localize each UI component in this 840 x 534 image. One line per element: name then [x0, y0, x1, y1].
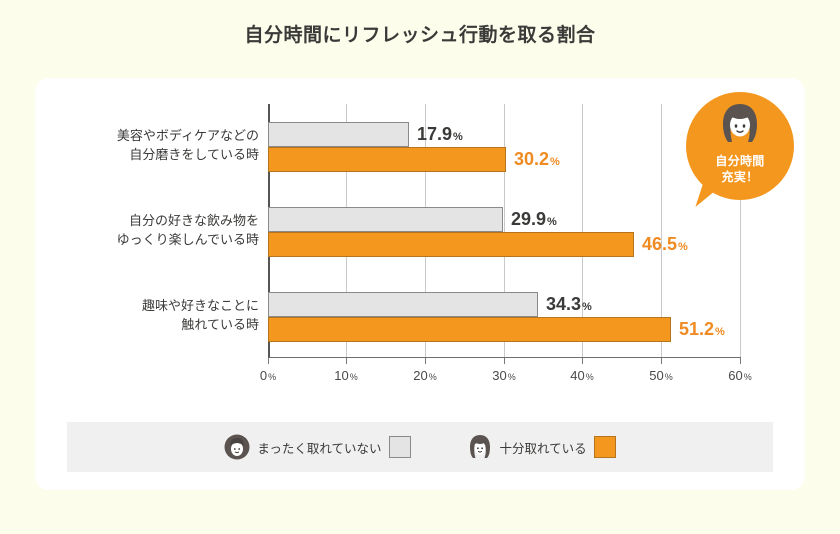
category-label-2: 趣味や好きなことに 触れている時 — [69, 296, 259, 334]
tick-60 — [740, 357, 741, 364]
chart-legend: まったく取れていない 十分取れている — [67, 422, 773, 472]
category-label-0-line2: 自分磨きをしている時 — [69, 145, 259, 164]
x-tick-label-0: 0% — [260, 368, 276, 383]
category-label-1-line1: 自分の好きな飲み物を — [69, 211, 259, 230]
percent-sign: % — [715, 326, 725, 338]
legend-swatch-gray — [389, 436, 411, 458]
category-label-1: 自分の好きな飲み物を ゆっくり楽しんでいる時 — [69, 211, 259, 249]
bar-value-gray-1-number: 29.9 — [511, 209, 546, 229]
tick-40 — [582, 357, 583, 364]
bar-value-gray-0: 17.9% — [417, 122, 463, 147]
x-tick-label-30-number: 30 — [492, 368, 506, 383]
bar-value-orange-2: 51.2% — [679, 317, 725, 342]
bar-value-gray-2-number: 34.3 — [546, 294, 581, 314]
bar-orange-1 — [268, 232, 634, 257]
bar-orange-2 — [268, 317, 671, 342]
legend-item-0[interactable]: まったく取れていない — [224, 434, 410, 460]
bar-value-orange-2-number: 51.2 — [679, 319, 714, 339]
x-tick-label-60-number: 60 — [728, 368, 742, 383]
percent-sign: % — [582, 301, 592, 313]
x-tick-label-20: 20% — [413, 368, 436, 383]
category-label-0: 美容やボディケアなどの 自分磨きをしている時 — [69, 126, 259, 164]
x-tick-label-60: 60% — [728, 368, 751, 383]
x-tick-label-0-number: 0 — [260, 368, 267, 383]
x-tick-label-30: 30% — [492, 368, 515, 383]
chart-page: 自分時間にリフレッシュ行動を取る割合 美容やボディケアなどの 自分磨きをしている… — [0, 0, 840, 534]
face-gray-icon — [224, 434, 250, 460]
tick-20 — [425, 357, 426, 364]
bar-value-orange-0-number: 30.2 — [514, 149, 549, 169]
percent-sign: % — [678, 241, 688, 253]
bar-orange-0 — [268, 147, 506, 172]
category-label-2-line1: 趣味や好きなことに — [69, 296, 259, 315]
percent-sign: % — [547, 216, 557, 228]
bar-gray-2 — [268, 292, 538, 317]
x-tick-label-20-number: 20 — [413, 368, 427, 383]
x-tick-label-10-number: 10 — [334, 368, 348, 383]
tick-50 — [661, 357, 662, 364]
category-label-0-line1: 美容やボディケアなどの — [69, 126, 259, 145]
category-labels: 美容やボディケアなどの 自分磨きをしている時 自分の好きな飲み物を ゆっくり楽し… — [63, 104, 259, 357]
bar-value-orange-0: 30.2% — [514, 147, 560, 172]
x-axis-line — [268, 357, 741, 358]
tick-30 — [504, 357, 505, 364]
legend-label-1: 十分取れている — [500, 438, 587, 457]
speech-bubble: 自分時間 充実！ — [686, 92, 794, 200]
category-label-2-line2: 触れている時 — [69, 315, 259, 334]
x-tick-label-50: 50% — [649, 368, 672, 383]
speech-bubble-line2: 充実！ — [686, 169, 794, 185]
legend-item-1[interactable]: 十分取れている — [467, 434, 616, 460]
tick-0 — [268, 357, 269, 364]
x-tick-label-40: 40% — [570, 368, 593, 383]
x-tick-label-40-number: 40 — [570, 368, 584, 383]
chart-card: 美容やボディケアなどの 自分磨きをしている時 自分の好きな飲み物を ゆっくり楽し… — [35, 78, 805, 490]
bar-gray-1 — [268, 207, 503, 232]
x-tick-label-10: 10% — [334, 368, 357, 383]
bar-value-gray-0-number: 17.9 — [417, 124, 452, 144]
x-tick-label-50-number: 50 — [649, 368, 663, 383]
speech-bubble-line1: 自分時間 — [686, 153, 794, 169]
plot-area: 17.9% 30.2% 29.9% 46.5% 34.3% 51.2% 0% 1… — [268, 104, 740, 357]
woman-face-icon — [717, 102, 763, 146]
tick-10 — [346, 357, 347, 364]
bar-value-gray-1: 29.9% — [511, 207, 557, 232]
bar-value-orange-1-number: 46.5 — [642, 234, 677, 254]
bar-value-gray-2: 34.3% — [546, 292, 592, 317]
bar-value-orange-1: 46.5% — [642, 232, 688, 257]
page-title: 自分時間にリフレッシュ行動を取る割合 — [0, 20, 840, 47]
percent-sign: % — [550, 156, 560, 168]
category-label-1-line2: ゆっくり楽しんでいる時 — [69, 230, 259, 249]
percent-sign: % — [453, 131, 463, 143]
bar-gray-0 — [268, 122, 409, 147]
legend-swatch-orange — [594, 436, 616, 458]
face-orange-icon — [467, 434, 493, 460]
legend-label-0: まったく取れていない — [257, 438, 381, 457]
